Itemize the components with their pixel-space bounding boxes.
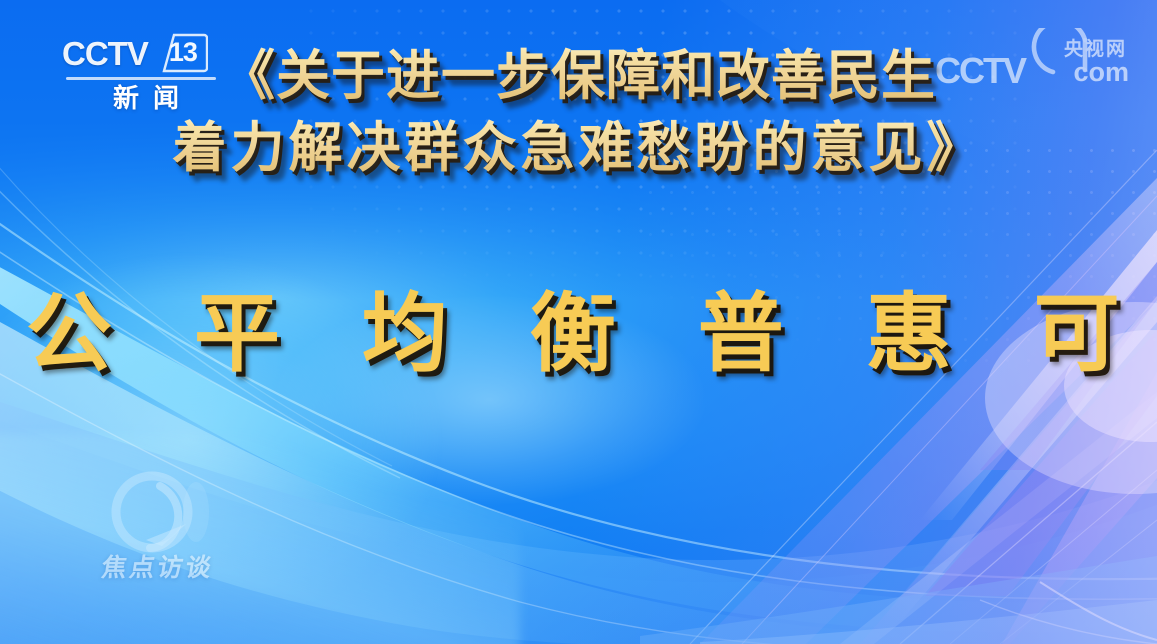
- channel-number-label: 13: [169, 39, 197, 66]
- channel-name-label: 新闻: [86, 85, 206, 114]
- cctv13-channel-logo: CCTV 13 新闻: [62, 33, 222, 121]
- cctv-logo-underline: [66, 77, 216, 80]
- program-bug: 焦点访谈: [100, 470, 270, 590]
- cctv-watermark-site-tld: com: [1073, 57, 1129, 88]
- program-name-label: 焦点访谈: [99, 548, 217, 584]
- channel-number-badge: 13: [154, 33, 208, 73]
- broadcast-graphic-frame: CCTV 13 新闻 CCTV 央视网 com 《关于进一步保障和改善民生 着力…: [0, 0, 1157, 644]
- cctv-network-wordmark: CCTV: [62, 37, 148, 70]
- cctv-watermark-wordmark: CCTV: [935, 50, 1025, 92]
- cctv13-logo-row: CCTV 13: [62, 33, 222, 73]
- cctv-com-watermark: CCTV 央视网 com: [935, 28, 1135, 96]
